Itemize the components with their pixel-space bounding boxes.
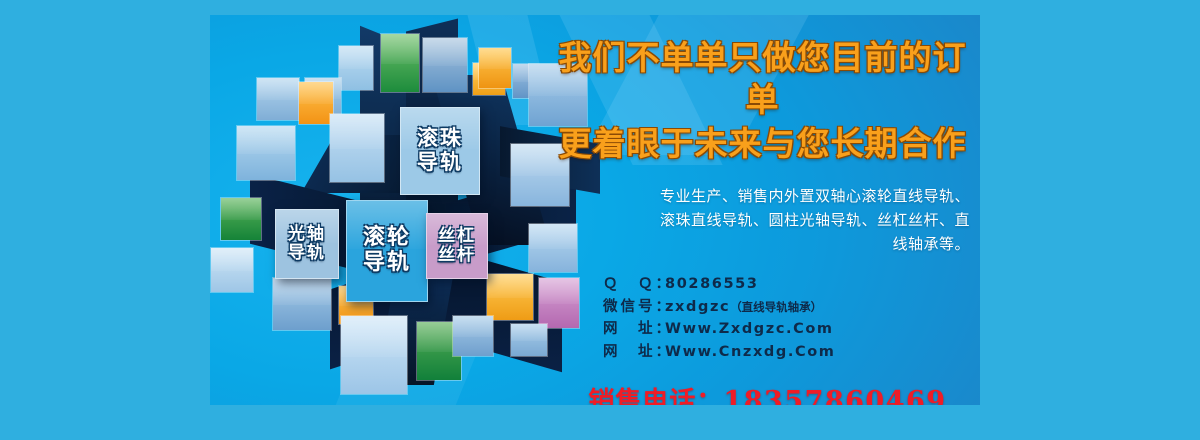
headline-line-1: 我们不单单只做您目前的订单	[555, 37, 970, 121]
contact-label-website-1: 网 址：	[603, 318, 665, 341]
contact-value-website-2[interactable]: Www.Cnzxdg.Com	[665, 341, 836, 364]
headline-line-2: 更着眼于未来与您长期合作	[555, 123, 970, 165]
cube	[486, 273, 534, 321]
contact-label-wechat: 微信号：	[603, 296, 665, 319]
cube	[340, 315, 408, 395]
description: 专业生产、销售内外置双轴心滚轮直线导轨、 滚珠直线导轨、圆柱光轴导轨、丝杠丝杆、…	[555, 184, 970, 257]
contact-value-website-1[interactable]: Www.Zxdgzc.Com	[665, 318, 834, 341]
description-line-2: 滚珠直线导轨、圆柱光轴导轨、丝杠丝杆、直	[569, 208, 970, 232]
label-line-1: 滚轮	[363, 226, 411, 251]
cube	[220, 197, 262, 241]
contact-note-wechat: （直线导轨轴承）	[730, 298, 822, 316]
label-line-2: 导轨	[288, 244, 326, 263]
label-line-2: 导轨	[417, 151, 463, 175]
cube	[510, 323, 548, 357]
label-line-1: 光轴	[288, 225, 326, 244]
label-box-guangzhou-daogui[interactable]: 光轴 导轨	[275, 209, 339, 279]
cube	[329, 113, 385, 183]
label-line-1: 丝杠	[438, 227, 476, 246]
contact-value-qq[interactable]: 80286553	[665, 273, 759, 296]
banner-text-column: 我们不单单只做您目前的订单 更着眼于未来与您长期合作 专业生产、销售内外置双轴心…	[555, 37, 970, 405]
cube	[478, 47, 512, 89]
label-line-2: 导轨	[363, 251, 411, 276]
headline: 我们不单单只做您目前的订单 更着眼于未来与您长期合作	[555, 37, 970, 166]
contact-row-wechat: 微信号： zxdgzc （直线导轨轴承）	[603, 296, 970, 319]
cube	[338, 45, 374, 91]
contact-info: Ｑ Ｑ： 80286553 微信号： zxdgzc （直线导轨轴承） 网 址： …	[555, 273, 970, 365]
label-box-gunzhu-daogui[interactable]: 滚珠 导轨	[400, 107, 480, 195]
contact-row-website-2: 网 址： Www.Cnzxdg.Com	[603, 341, 970, 364]
description-line-3: 线轴承等。	[569, 232, 970, 256]
cube	[236, 125, 296, 181]
cube	[256, 77, 300, 121]
page-root: 滚珠 导轨 光轴 导轨 滚轮 导轨 丝杠 丝杆 我们不单单只做您目	[0, 0, 1200, 440]
sales-phone: 销售电话：18357860469	[555, 381, 970, 405]
description-line-1: 专业生产、销售内外置双轴心滚轮直线导轨、	[569, 184, 970, 208]
cube	[422, 37, 468, 93]
contact-label-qq: Ｑ Ｑ：	[603, 273, 665, 296]
sales-phone-label: 销售电话：	[588, 387, 723, 405]
label-line-2: 丝杆	[438, 246, 476, 265]
contact-row-qq: Ｑ Ｑ： 80286553	[603, 273, 970, 296]
promo-banner: 滚珠 导轨 光轴 导轨 滚轮 导轨 丝杠 丝杆 我们不单单只做您目	[210, 15, 980, 405]
label-box-gunlun-daogui[interactable]: 滚轮 导轨	[346, 200, 428, 302]
contact-row-website-1: 网 址： Www.Zxdgzc.Com	[603, 318, 970, 341]
label-box-sigang-sigan[interactable]: 丝杠 丝杆	[426, 213, 488, 279]
contact-value-wechat[interactable]: zxdgzc	[665, 296, 730, 319]
cube	[380, 33, 420, 93]
sales-phone-number[interactable]: 18357860469	[723, 386, 946, 405]
cube	[452, 315, 494, 357]
label-line-1: 滚珠	[417, 127, 463, 151]
cube	[272, 277, 332, 331]
contact-label-website-2: 网 址：	[603, 341, 665, 364]
cube	[210, 247, 254, 293]
